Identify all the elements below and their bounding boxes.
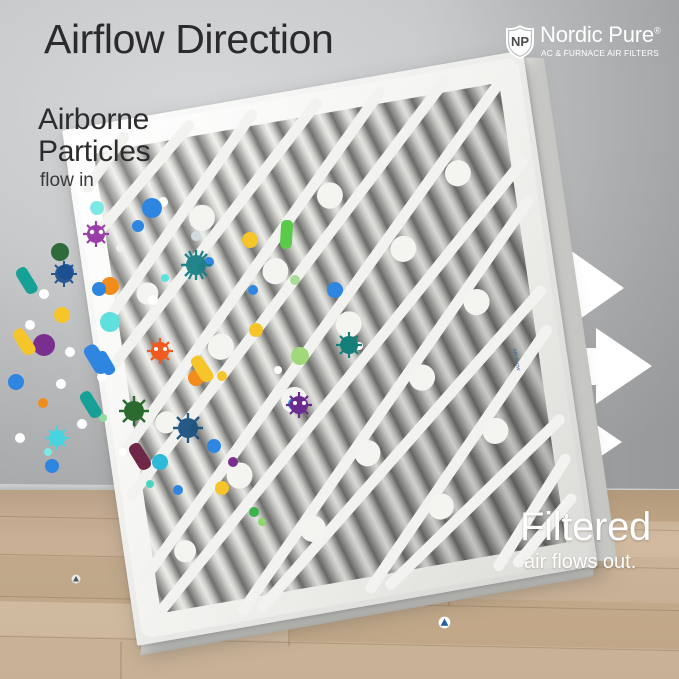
airflow-triangle-icon <box>438 616 451 629</box>
shield-initials: NP <box>511 34 529 49</box>
air-filter-product: AIR FLOW <box>0 0 679 679</box>
page-title: Airflow Direction <box>44 16 333 63</box>
airflow-triangle-icon-secondary <box>71 574 81 584</box>
registered-mark: ® <box>654 26 660 36</box>
inlet-callout: Airborne Particles <box>38 104 150 168</box>
infographic-scene: AIR FLOW <box>0 0 679 679</box>
brand-logo: NP Nordic Pure® AC & FURNACE AIR FILTERS <box>504 24 656 60</box>
brand-name-text: Nordic Pure <box>540 22 654 47</box>
inlet-callout-line1: Airborne <box>38 103 149 136</box>
brand-tagline: AC & FURNACE AIR FILTERS <box>541 48 659 58</box>
brand-name: Nordic Pure® <box>540 22 660 48</box>
outlet-callout-small: air flows out. <box>524 551 636 574</box>
outlet-callout: Filtered <box>520 505 651 550</box>
inlet-callout-line2: Particles <box>38 136 150 168</box>
shield-icon: NP <box>504 24 536 60</box>
inlet-callout-small: flow in <box>40 170 94 192</box>
